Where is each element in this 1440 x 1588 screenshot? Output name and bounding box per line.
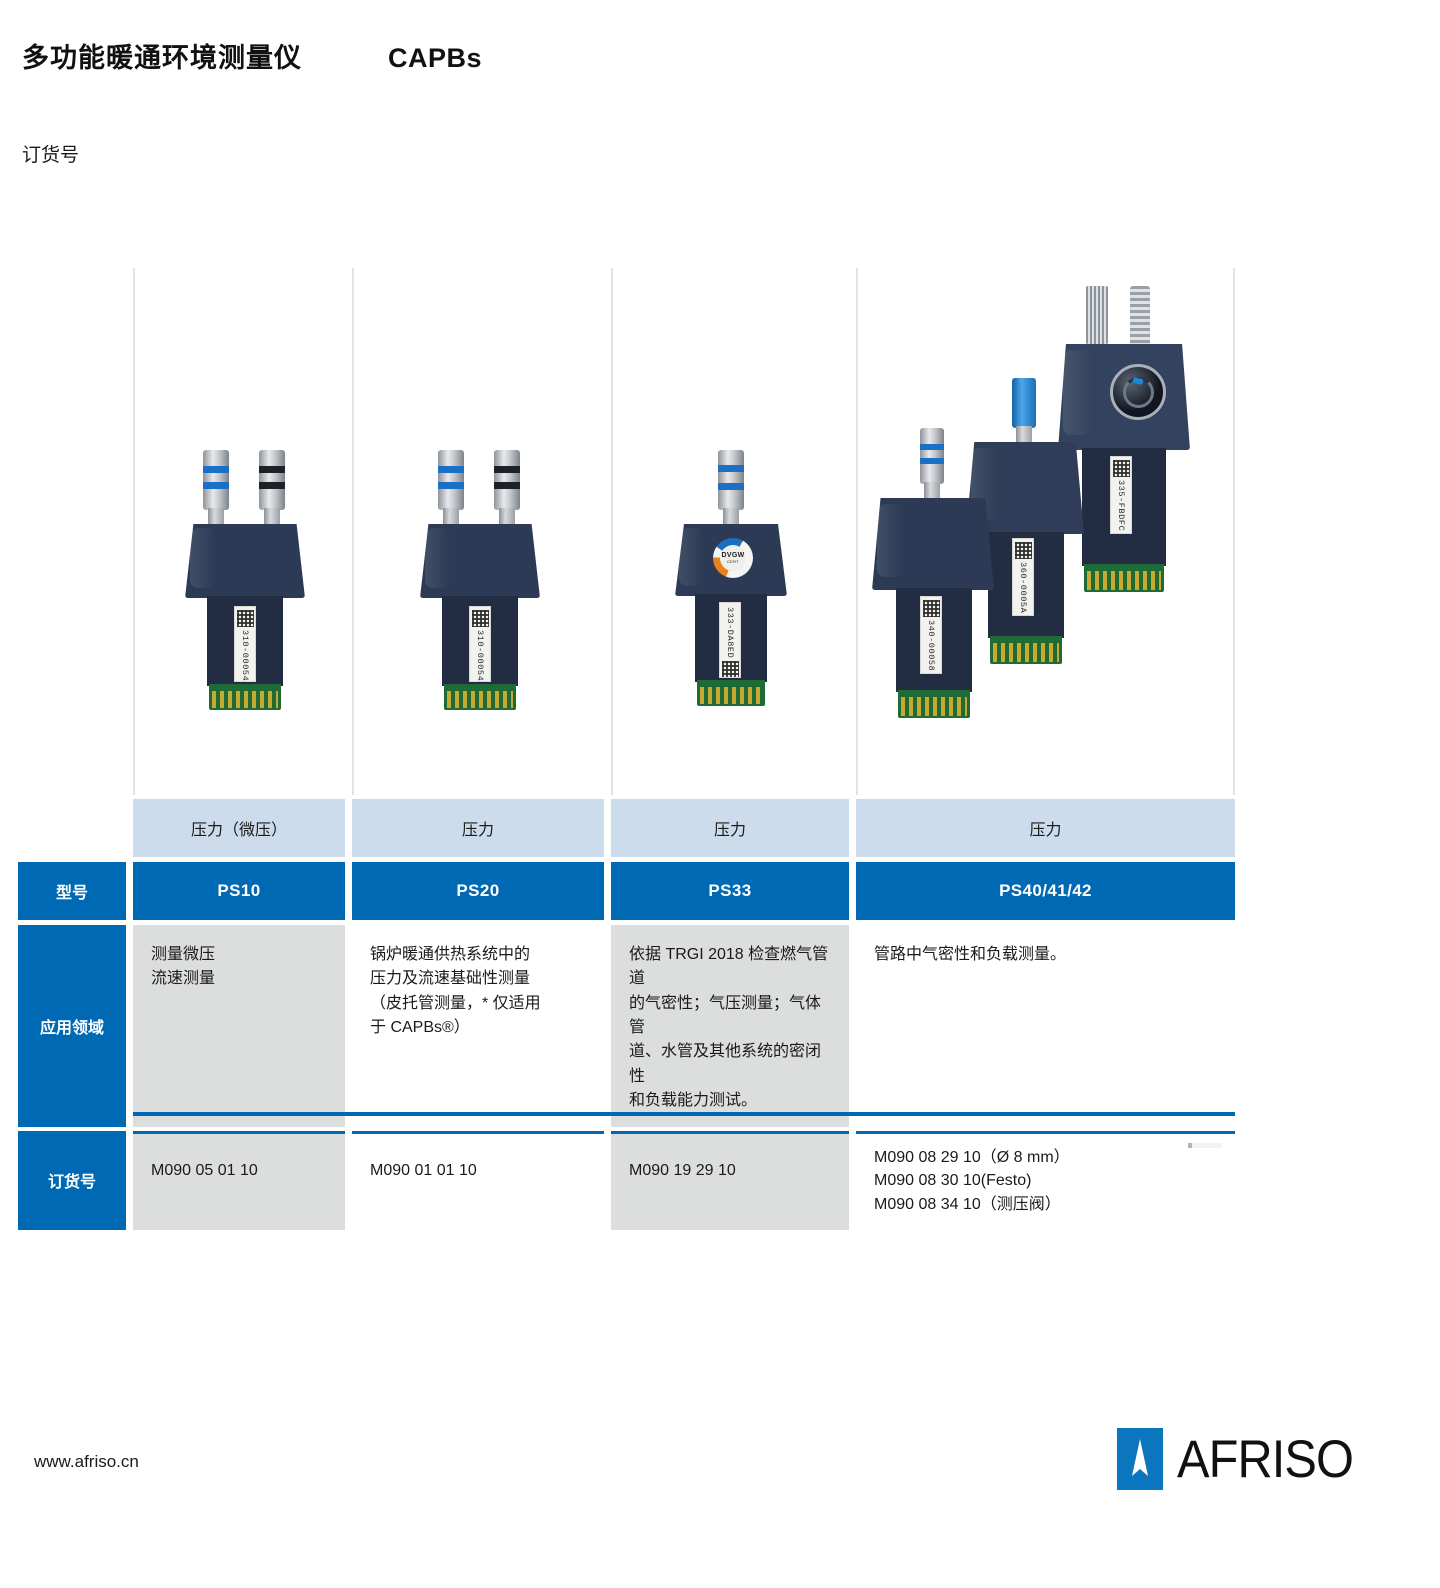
sensor-housing [872,498,994,590]
pcb-pins [1087,571,1161,590]
application-line: （皮托管测量，* 仅适用 [370,992,590,1016]
type-cell-ps20: 压力 [352,799,604,857]
afriso-arrow-icon [1117,1428,1163,1490]
page-title-en: CAPBs [388,43,482,74]
product-image-ps20: 310-00054 [352,268,604,795]
application-line: 的气密性；气压测量；气体管 [629,992,835,1041]
column-gap [126,925,133,1127]
model-cell-ps20: PS20 [352,862,604,920]
column-gap [604,268,611,795]
application-cell-ps10: 测量微压 流速测量 [133,925,345,1127]
column-gap [849,862,856,920]
sensor-housing [420,524,540,598]
column-gap [345,1131,352,1230]
type-row-label-spacer [18,799,126,857]
product-table: 310-00054 [18,268,1235,1230]
column-gap [126,268,133,795]
port-neck [208,508,225,524]
page-subtitle: 订货号 [22,140,79,167]
pcb-connector [444,684,516,710]
afriso-logo-text: AFRISO [1177,1429,1353,1490]
pcb-pins [447,691,513,709]
port-ring-blue [920,444,944,450]
port-neck [499,508,516,524]
qr-code-icon [1015,542,1032,559]
port-ring-blue [718,465,744,472]
device-label: 333-DA8ED [719,602,741,678]
column-gap [345,925,352,1127]
application-line: 流速测量 [151,967,331,991]
order-number-line: M090 19 29 10 [629,1159,835,1182]
qr-code-icon [722,661,739,678]
page-title-cn: 多功能暖通环境测量仪 [22,36,302,75]
afriso-logo: AFRISO [1117,1428,1368,1490]
pcb-pins [212,691,278,709]
rotary-dial [1110,364,1166,420]
ps40-unit: 340-00058 [872,428,994,728]
table-bottom-rule [133,1112,1235,1116]
port-threaded [1130,286,1150,348]
measurement-type-row: 压力（微压） 压力 压力 压力 [18,799,1235,857]
ps33-sensor: DVGW CERT 333-DA8ED [675,450,787,706]
port-ring-blue [203,466,229,473]
document-page: 多功能暖通环境测量仪 CAPBs 订货号 [0,0,1440,1588]
application-line: 依据 TRGI 2018 检查燃气管道 [629,943,835,992]
device-label-code: 310-00054 [240,630,250,681]
port-neck [924,482,939,498]
column-gap [849,925,856,1127]
order-number-line: M090 08 30 10(Festo) [874,1169,1221,1192]
column-gap [604,799,611,857]
device-label: 310-00054 [469,606,491,682]
crop-registration-mark [1188,1143,1222,1148]
device-label-code: 360-0005A [1018,562,1028,613]
model-cell-ps10: PS10 [133,862,345,920]
qr-code-icon [923,600,940,617]
application-line: 锅炉暖通供热系统中的 [370,943,590,967]
device-label-code: 333-DA8ED [725,607,735,658]
column-gap [345,862,352,920]
column-gap [126,862,133,920]
product-image-ps40-41-42: 335-FBDFC [856,268,1235,795]
application-line: 压力及流速基础性测量 [370,967,590,991]
port-knurled [1086,286,1108,344]
qr-code-icon [1113,460,1130,477]
port-neck [1016,426,1031,442]
application-cell-ps33: 依据 TRGI 2018 检查燃气管道 的气密性；气压测量；气体管 道、水管及其… [611,925,849,1127]
order-number-row-label: 订货号 [18,1131,126,1230]
pcb-pins [700,687,763,705]
dvgw-badge-inner: DVGW CERT [720,545,746,571]
model-cell-ps33: PS33 [611,862,849,920]
port-ring-blue [438,482,464,489]
order-number-cell-ps20: M090 01 01 10 [352,1131,604,1230]
product-image-ps33: DVGW CERT 333-DA8ED [611,268,849,795]
port-left [203,450,229,510]
port-ring-dark [494,482,520,489]
port-blue-quick-connect [1012,378,1036,428]
dial-marker [1132,377,1143,385]
column-gap [849,799,856,857]
column-gap [345,268,352,795]
order-number-cell-ps33: M090 19 29 10 [611,1131,849,1230]
application-line: 道、水管及其他系统的密闭性 [629,1040,835,1089]
column-gap [345,799,352,857]
column-gap [604,862,611,920]
footer-website-url[interactable]: www.afriso.cn [34,1452,139,1472]
device-label-code: 310-00054 [475,630,485,681]
port-ring-dark [259,466,285,473]
port-right [259,450,285,510]
sensor-housing [185,524,305,598]
port-ring-blue [920,458,944,464]
application-cell-ps40: 管路中气密性和负载测量。 [856,925,1235,1127]
port-right [494,450,520,510]
qr-code-icon [472,610,489,627]
page-title: 多功能暖通环境测量仪 CAPBs [22,36,482,75]
device-label: 335-FBDFC [1110,456,1132,534]
ps40-41-42-sensor-group: 335-FBDFC [858,268,1258,795]
dvgw-certification-badge: DVGW CERT [713,538,753,578]
application-line: 于 CAPBs®） [370,1016,590,1040]
application-row: 应用领域 测量微压 流速测量 锅炉暖通供热系统中的 压力及流速基础性测量 （皮托… [18,925,1235,1127]
image-row-label-spacer [18,268,126,795]
pcb-pins [901,697,967,716]
pcb-pins [993,643,1059,662]
port-neck [264,508,281,524]
model-row: 型号 PS10 PS20 PS33 PS40/41/42 [18,862,1235,920]
application-row-label: 应用领域 [18,925,126,1127]
port-ring-dark [259,482,285,489]
column-gap [604,1131,611,1230]
device-label: 360-0005A [1012,538,1034,616]
application-line: 和负载能力测试。 [629,1089,835,1113]
column-gap [849,268,856,795]
order-number-line: M090 08 34 10（测压阀） [874,1193,1221,1216]
column-gap [849,1131,856,1230]
port-ring-blue [438,466,464,473]
order-number-cell-ps40: M090 08 29 10（Ø 8 mm） M090 08 30 10(Fest… [856,1131,1235,1230]
port-neck [443,508,460,524]
port-neck [723,508,740,524]
model-cell-ps40: PS40/41/42 [856,862,1235,920]
port-ring-blue [718,483,744,490]
model-row-label: 型号 [18,862,126,920]
type-cell-ps10: 压力（微压） [133,799,345,857]
pcb-connector [209,684,281,710]
order-number-row: 订货号 M090 05 01 10 M090 01 01 10 M090 19 … [18,1131,1235,1230]
type-cell-ps33: 压力 [611,799,849,857]
device-label-code: 340-00058 [926,620,936,671]
order-number-line: M090 05 01 10 [151,1159,331,1182]
application-line: 管路中气密性和负载测量。 [874,943,1221,967]
dvgw-badge-text: DVGW [722,552,745,559]
port-center [718,450,744,510]
device-label: 310-00054 [234,606,256,682]
port-ring-dark [494,466,520,473]
port-ring-blue [203,482,229,489]
pcb-connector [1084,564,1164,592]
dvgw-badge-subtext: CERT [727,559,739,564]
device-label-code: 335-FBDFC [1116,480,1126,531]
port-left [438,450,464,510]
pcb-connector [898,690,970,718]
column-gap [604,925,611,1127]
product-image-ps10: 310-00054 [133,268,345,795]
pcb-connector [990,636,1062,664]
pcb-connector [697,680,765,706]
device-label: 340-00058 [920,596,942,674]
port-center [920,428,944,484]
ps10-sensor: 310-00054 [185,450,305,710]
column-gap [126,799,133,857]
column-gap [126,1131,133,1230]
product-image-row: 310-00054 [18,268,1235,795]
type-cell-ps40: 压力 [856,799,1235,857]
order-number-line: M090 01 01 10 [370,1159,590,1182]
application-cell-ps20: 锅炉暖通供热系统中的 压力及流速基础性测量 （皮托管测量，* 仅适用 于 CAP… [352,925,604,1127]
order-number-line: M090 08 29 10（Ø 8 mm） [874,1146,1221,1169]
order-number-cell-ps10: M090 05 01 10 [133,1131,345,1230]
application-line: 测量微压 [151,943,331,967]
qr-code-icon [237,610,254,627]
dial-ring [1123,377,1154,408]
ps20-sensor: 310-00054 [420,450,540,710]
